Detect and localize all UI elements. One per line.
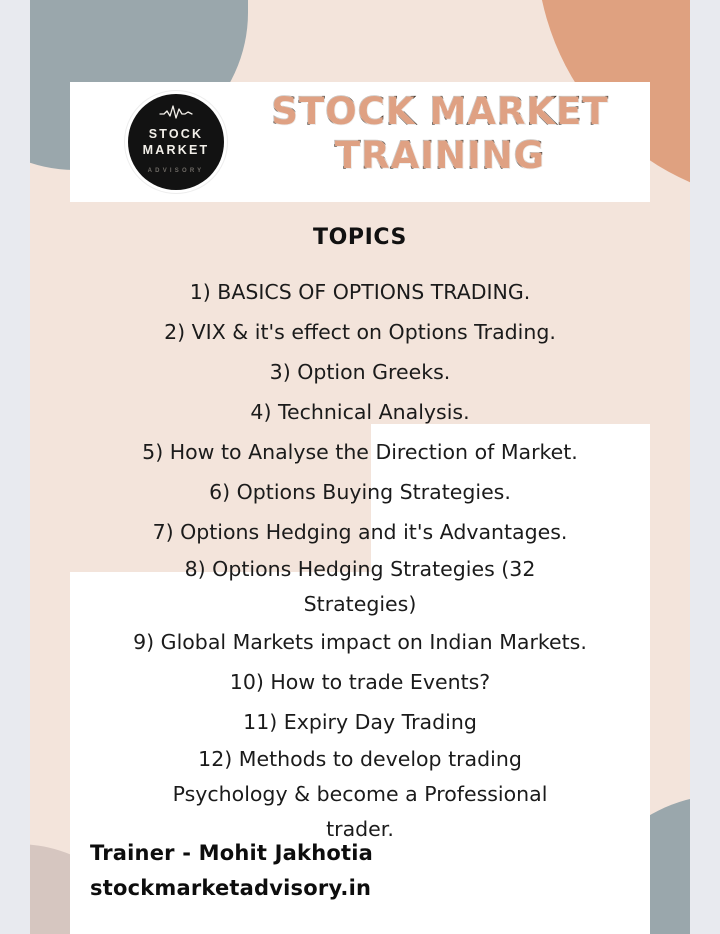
topics-list: 1) BASICS OF OPTIONS TRADING. 2) VIX & i… <box>50 272 670 847</box>
header-band: STOCK MARKET ADVISORY STOCK MARKET TRAIN… <box>70 82 650 202</box>
topic-item: 3) Option Greeks. <box>50 352 670 392</box>
brand-logo: STOCK MARKET ADVISORY <box>128 94 224 190</box>
topics-heading: TOPICS <box>30 225 690 250</box>
pulse-line-icon <box>159 105 193 124</box>
footer-block: Trainer - Mohit Jakhotia stockmarketadvi… <box>90 836 510 906</box>
topic-item: 12) Methods to develop trading Psycholog… <box>50 742 670 847</box>
title-line-2: TRAINING <box>240 134 640 178</box>
title-line-1: STOCK MARKET <box>240 90 640 134</box>
website-label: stockmarketadvisory.in <box>90 871 510 906</box>
topic-item: 7) Options Hedging and it's Advantages. <box>50 512 670 552</box>
slide-canvas: STOCK MARKET ADVISORY STOCK MARKET TRAIN… <box>30 0 690 934</box>
logo-tagline: ADVISORY <box>148 163 205 179</box>
logo-line-2: MARKET <box>143 142 210 158</box>
topic-item: 4) Technical Analysis. <box>50 392 670 432</box>
topic-item: 6) Options Buying Strategies. <box>50 472 670 512</box>
topic-item: 8) Options Hedging Strategies (32 Strate… <box>50 552 670 622</box>
logo-line-1: STOCK <box>149 126 204 142</box>
topic-item: 1) BASICS OF OPTIONS TRADING. <box>50 272 670 312</box>
trainer-name: Trainer - Mohit Jakhotia <box>90 836 510 871</box>
topic-item: 2) VIX & it's effect on Options Trading. <box>50 312 670 352</box>
page-title: STOCK MARKET TRAINING <box>240 90 640 178</box>
topic-item: 5) How to Analyse the Direction of Marke… <box>50 432 670 472</box>
topic-item: 11) Expiry Day Trading <box>50 702 670 742</box>
topic-item: 10) How to trade Events? <box>50 662 670 702</box>
topic-item: 9) Global Markets impact on Indian Marke… <box>50 622 670 662</box>
